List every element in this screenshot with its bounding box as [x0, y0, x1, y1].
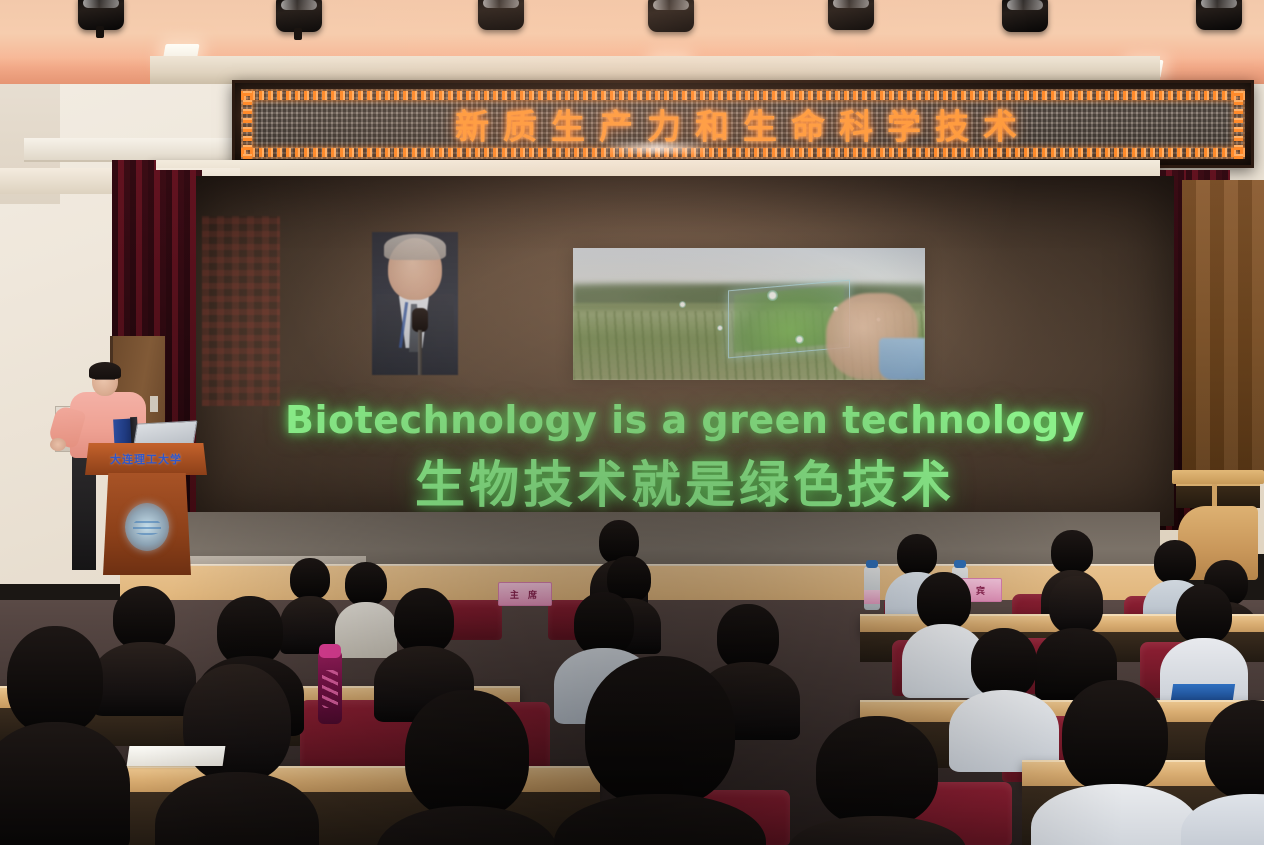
wood-wall-panel — [1182, 180, 1264, 480]
head — [897, 534, 937, 576]
bottle-cap — [866, 560, 878, 568]
podium-university-name: 大连理工大学 — [85, 451, 207, 467]
spotlight-mount — [96, 26, 104, 38]
head — [1051, 530, 1093, 574]
stage-spotlight-icon — [478, 0, 524, 30]
head — [405, 690, 529, 818]
shoulders — [376, 806, 558, 845]
console-top — [1172, 470, 1264, 484]
stage-spotlight-icon — [828, 0, 874, 30]
head — [1049, 576, 1103, 634]
head — [816, 716, 938, 826]
head — [1176, 584, 1232, 644]
slide-headline-chinese: 生物技术就是绿色技术 — [196, 445, 1174, 517]
shoulders — [788, 816, 966, 845]
bottle-label — [864, 590, 880, 604]
stage-spotlight-icon — [1002, 0, 1048, 32]
head — [917, 572, 971, 630]
head — [585, 656, 735, 806]
handout-paper — [127, 746, 226, 766]
name-placard: 主 席 — [498, 582, 552, 606]
led-banner-glare — [602, 143, 712, 153]
head — [1205, 700, 1264, 800]
spotlight-mount — [294, 28, 302, 40]
stage-spotlight-icon — [1196, 0, 1242, 30]
head — [1062, 680, 1168, 792]
speaker-hair — [89, 362, 121, 379]
shoulders — [155, 772, 319, 845]
head — [7, 626, 103, 734]
university-emblem-icon — [125, 503, 169, 551]
speaker-glasses-icon — [95, 379, 115, 385]
stage-spotlight-icon — [648, 0, 694, 32]
shoulders — [0, 722, 130, 845]
door-handle-icon[interactable] — [150, 396, 158, 412]
led-banner-frame: 新质生产力和生命科学技术 — [232, 80, 1254, 168]
head — [113, 586, 175, 650]
head — [574, 592, 634, 656]
podium: 大连理工大学 — [85, 443, 207, 575]
slide-headline-english: Biotechnology is a green technology — [196, 398, 1174, 442]
shoulders — [1031, 784, 1199, 845]
head — [1154, 540, 1196, 584]
pink-sports-bottle — [318, 650, 342, 724]
shoulders — [554, 794, 766, 845]
soffit-ledge — [24, 138, 239, 162]
led-border-bottom — [241, 148, 1245, 157]
pink-bottle-cap — [319, 644, 341, 658]
console-divider — [1212, 484, 1217, 506]
bottle-cap — [954, 560, 966, 568]
led-banner-matrix: 新质生产力和生命科学技术 — [241, 89, 1245, 159]
audience-member — [1040, 680, 1190, 845]
auditorium-photo: 新质生产力和生命科学技术 — [0, 0, 1264, 845]
console-cubby — [1176, 484, 1260, 508]
audience-member — [382, 690, 552, 845]
audience-member — [792, 716, 962, 845]
shoulders — [1181, 794, 1264, 845]
head — [971, 628, 1037, 698]
audience-member — [1188, 700, 1264, 845]
speaker-hand — [50, 438, 66, 451]
led-banner-text: 新质生产力和生命科学技术 — [241, 100, 1245, 149]
head — [290, 558, 330, 600]
audience-member — [0, 626, 120, 845]
head — [394, 588, 454, 654]
bottle-graphic — [322, 670, 338, 708]
audience-member — [560, 656, 760, 845]
